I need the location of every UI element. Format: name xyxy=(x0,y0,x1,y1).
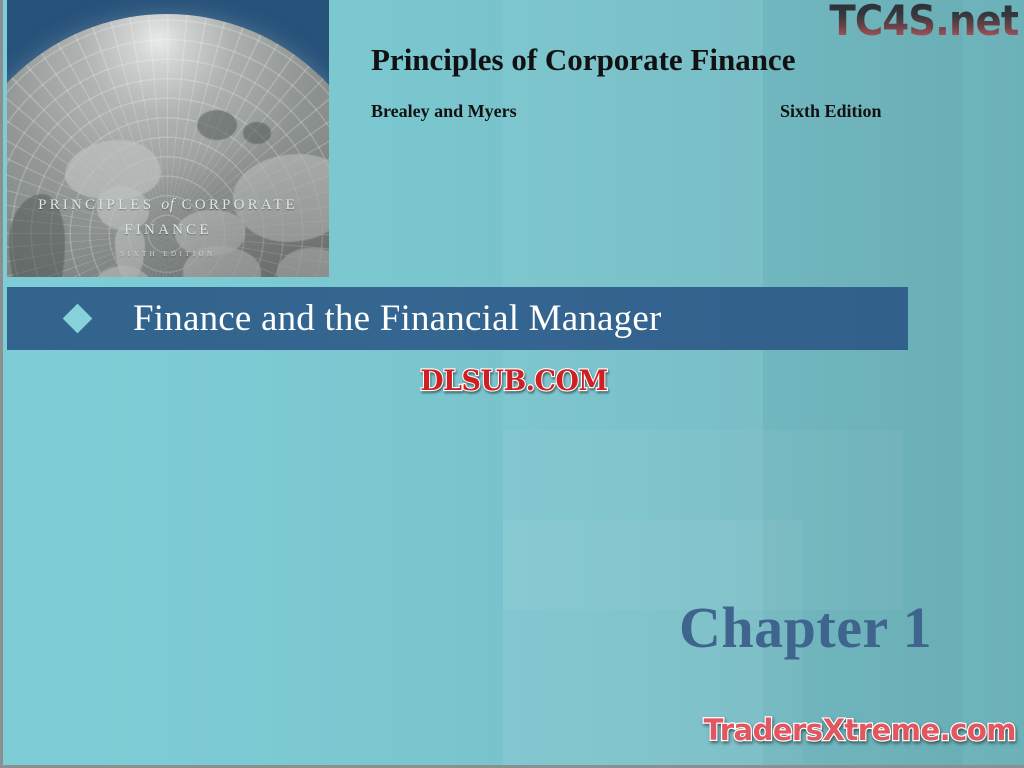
watermark-tradersxtreme: TradersXtreme.com xyxy=(704,713,1016,747)
book-title: Principles of Corporate Finance xyxy=(371,42,795,78)
book-cover-image: PRINCIPLES of CORPORATE FINANCE SIXTH ED… xyxy=(7,0,329,277)
watermark-dlsub: DLSUB.COM xyxy=(374,362,654,398)
slide-title: Finance and the Financial Manager xyxy=(133,300,662,337)
diamond-bullet-icon xyxy=(63,304,93,334)
slide-title-banner: Finance and the Financial Manager xyxy=(7,287,908,350)
globe-graphic xyxy=(7,14,329,277)
edition-label: Sixth Edition xyxy=(780,101,882,122)
authors-label: Brealey and Myers xyxy=(371,101,517,122)
globe-shading-overlay xyxy=(7,14,329,277)
presentation-slide: PRINCIPLES of CORPORATE FINANCE SIXTH ED… xyxy=(0,0,1024,768)
watermark-tc4s: TC4S.net xyxy=(829,0,1018,45)
chapter-label: Chapter 1 xyxy=(679,594,932,661)
